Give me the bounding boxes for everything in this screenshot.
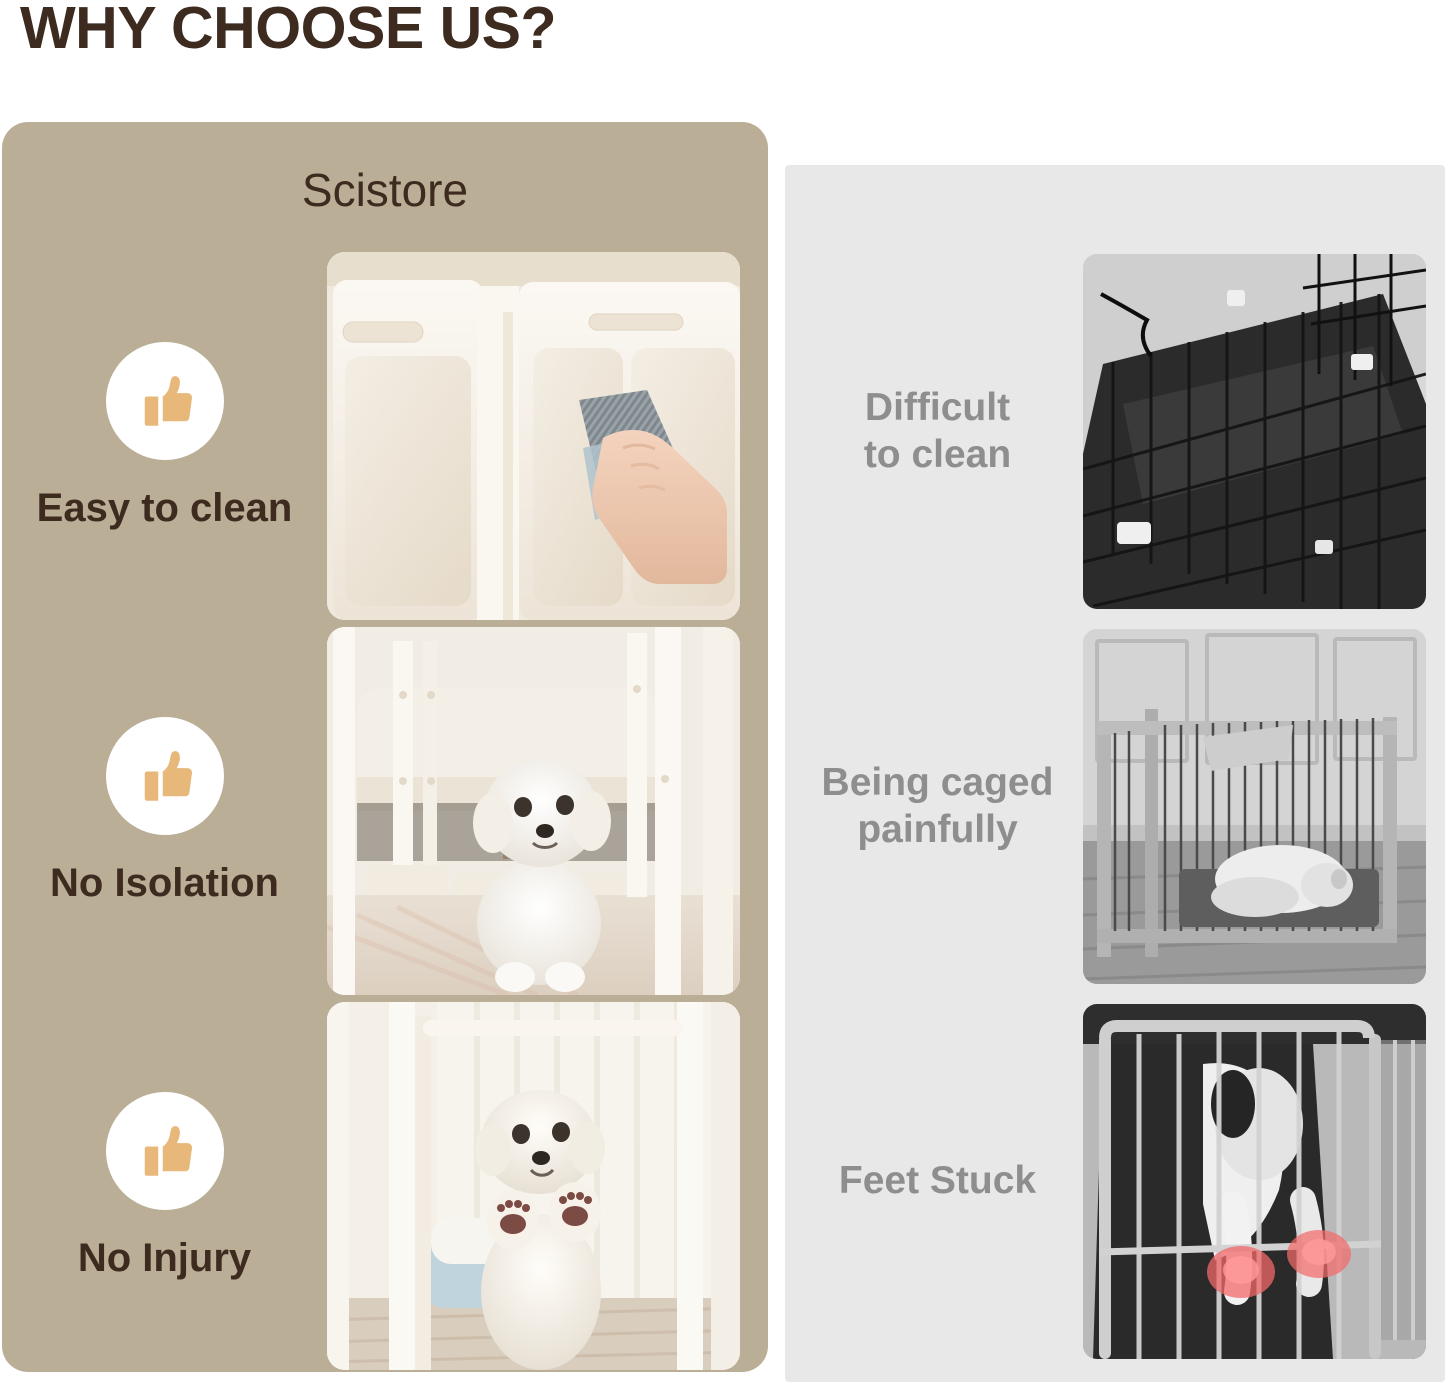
con-problem-photo <box>1083 254 1426 609</box>
con-problem-caption: Difficult to clean <box>800 254 1075 609</box>
con-problem-photo <box>1083 629 1426 984</box>
con-problem-label: Difficult to clean <box>864 385 1011 477</box>
con-label-line: Being caged <box>822 761 1054 804</box>
con-problem-caption: Being caged painfully <box>800 629 1075 984</box>
con-label-line: to clean <box>864 433 1011 476</box>
infographic-root: WHY CHOOSE US? Scistore Easy to clean <box>0 0 1445 1382</box>
con-label-line: painfully <box>857 808 1017 851</box>
page-title: WHY CHOOSE US? <box>20 0 556 61</box>
con-label-line: Feet Stuck <box>839 1159 1036 1202</box>
con-problem-label: Being caged painfully <box>822 760 1054 852</box>
con-problem-row: Difficult to clean <box>0 254 1445 629</box>
con-problem-row: Being caged painfully <box>0 629 1445 1004</box>
con-label-line: Difficult <box>865 386 1010 429</box>
con-problem-caption: Feet Stuck <box>800 1004 1075 1359</box>
brand-label: Scistore <box>2 163 768 217</box>
con-problem-label: Feet Stuck <box>839 1158 1036 1204</box>
con-problem-row: Feet Stuck <box>0 1004 1445 1379</box>
con-problem-photo <box>1083 1004 1426 1359</box>
